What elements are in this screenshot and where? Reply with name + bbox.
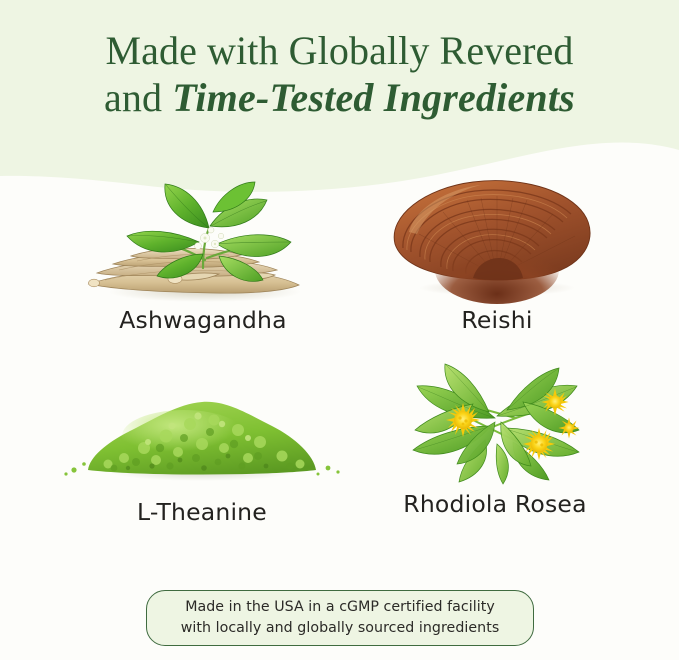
reishi-mushroom-icon [347,172,647,304]
title-line-2-emphasis: Time-Tested Ingredients [172,75,575,120]
green-tea-powder-mound-icon [52,364,352,496]
ingredients-infographic: Made with Globally Revered and Time-Test… [0,0,679,660]
title-line-2: and Time-Tested Ingredients [0,74,679,121]
ingredient-card-l-theanine: L-Theanine [52,364,352,549]
page-title: Made with Globally Revered and Time-Test… [0,27,679,121]
ingredient-label-l-theanine: L-Theanine [52,498,352,526]
ingredient-label-ashwagandha: Ashwagandha [53,306,353,334]
rhodiola-rosea-flower-icon [345,356,645,488]
ingredient-card-reishi: Reishi [347,172,647,357]
title-line-2-prefix: and [104,75,172,120]
ingredient-card-rhodiola-rosea: Rhodiola Rosea [345,356,645,541]
ingredient-label-reishi: Reishi [347,306,647,334]
ashwagandha-root-and-leaves-icon [53,172,353,304]
ingredient-card-ashwagandha: Ashwagandha [53,172,353,357]
ingredient-grid: Ashwagandha [0,168,679,568]
title-line-1: Made with Globally Revered [0,27,679,74]
ingredient-label-rhodiola-rosea: Rhodiola Rosea [345,490,645,518]
manufacturing-badge: Made in the USA in a cGMP certified faci… [146,590,534,646]
badge-line-1: Made in the USA in a cGMP certified faci… [185,597,495,618]
badge-line-2: with locally and globally sourced ingred… [181,618,500,639]
